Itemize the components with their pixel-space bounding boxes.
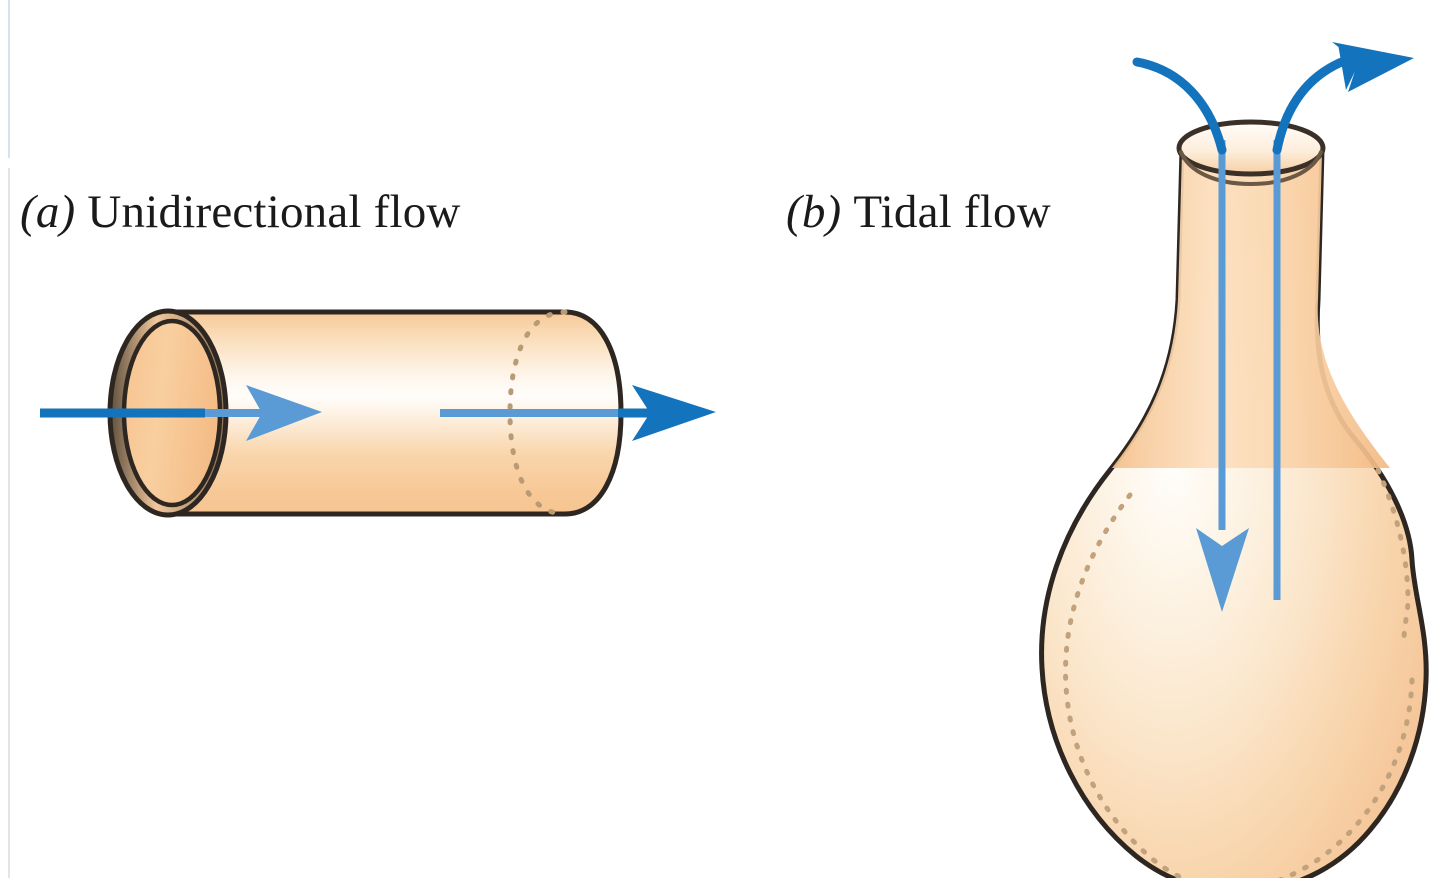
tidal-flask-group bbox=[1042, 42, 1427, 878]
panel-label-a: (a)Unidirectional flow bbox=[20, 185, 461, 239]
panel-enumerator-b: (b) bbox=[786, 186, 841, 238]
figure-root: (a)Unidirectional flow (b)Tidal flow bbox=[0, 0, 1440, 878]
panel-label-b: (b)Tidal flow bbox=[786, 185, 1051, 239]
panel-enumerator-a: (a) bbox=[20, 186, 75, 238]
panel-caption-b: Tidal flow bbox=[853, 186, 1050, 238]
flask-neck-shading bbox=[1112, 152, 1390, 468]
panel-caption-a: Unidirectional flow bbox=[87, 186, 460, 238]
unidirectional-tube-group bbox=[40, 311, 716, 515]
flask-mouth-opening bbox=[1179, 122, 1323, 174]
figure-canvas bbox=[0, 0, 1440, 878]
